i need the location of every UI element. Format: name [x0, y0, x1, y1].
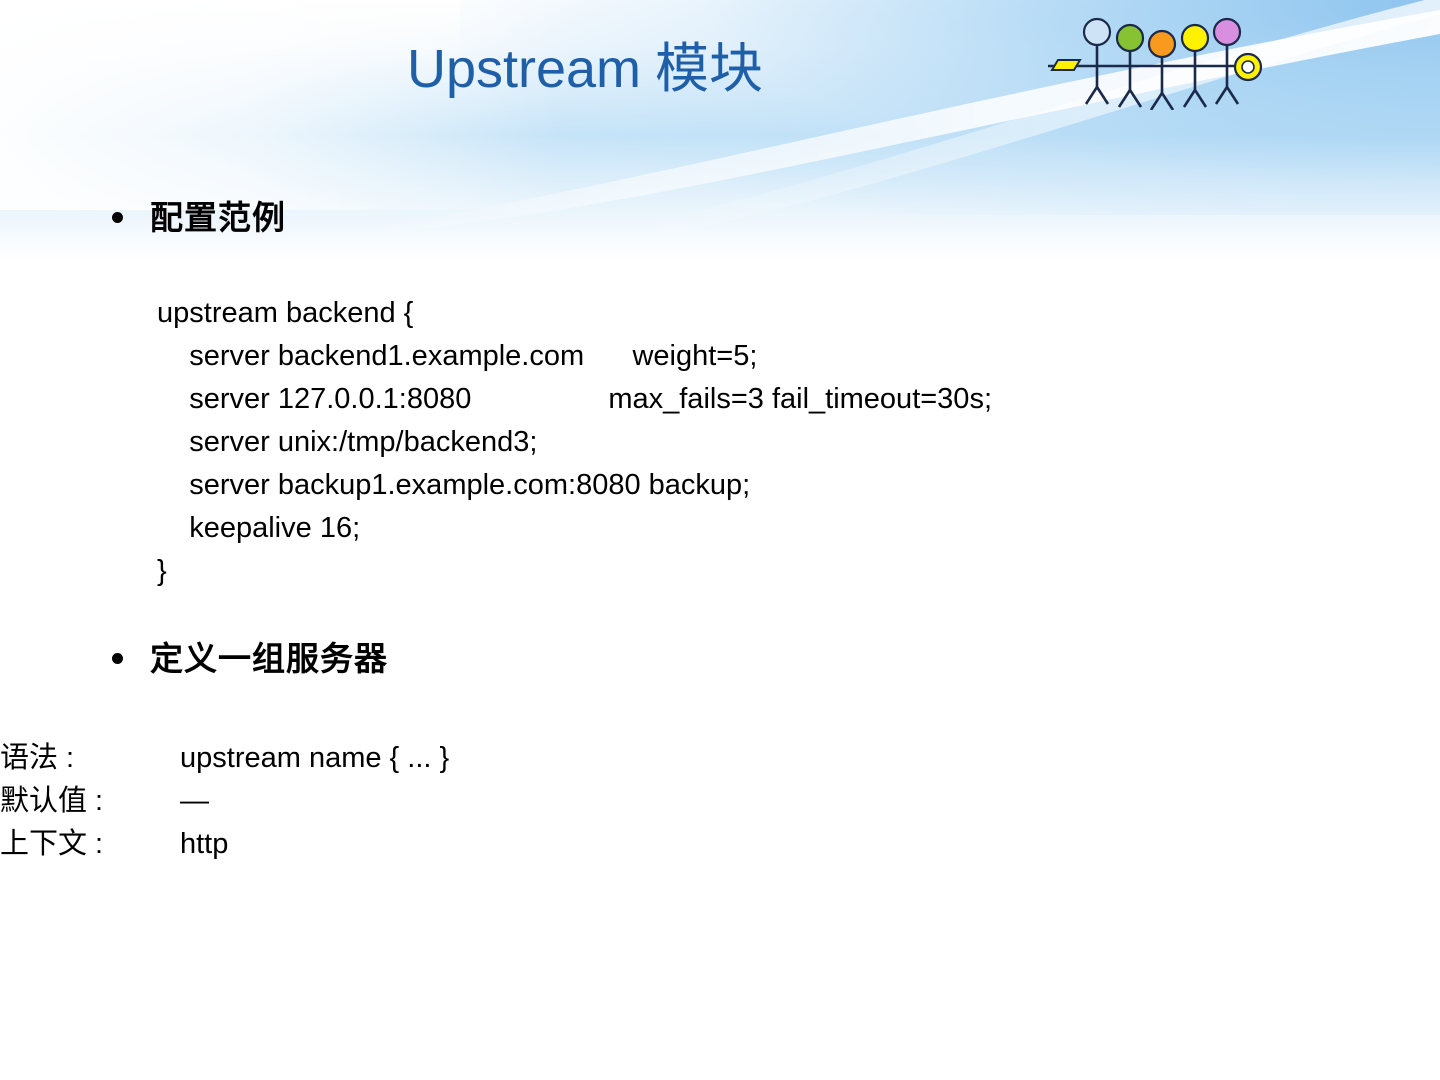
code-line: keepalive 16; — [157, 507, 1440, 550]
code-line: } — [157, 550, 1440, 593]
syntax-value: upstream name { ... } — [180, 737, 449, 780]
page-title-cjk: 模块 — [655, 39, 763, 99]
bullet-dot-icon — [112, 212, 123, 223]
code-line: upstream backend { — [157, 292, 1440, 335]
section-spacer — [0, 593, 1440, 637]
bullet-label: 定义一组服务器 — [150, 640, 388, 677]
logo-flag-icon — [1052, 60, 1080, 70]
syntax-label: 默认值 : — [0, 780, 180, 823]
syntax-label: 上下文 : — [0, 823, 180, 866]
page-title: Upstream模块 — [0, 36, 1170, 102]
code-line: server 127.0.0.1:8080 max_fails=3 fail_t… — [157, 378, 1440, 421]
bullet-item-define-server-group: 定义一组服务器 — [0, 637, 1440, 681]
code-block-upstream: upstream backend { server backend1.examp… — [0, 292, 1440, 593]
table-row: 默认值 : — — [0, 780, 449, 823]
table-row: 上下文 : http — [0, 823, 449, 866]
bullet-item-config-example: 配置范例 — [0, 196, 1440, 240]
background-white-fade — [0, 0, 560, 210]
bullet-dot-icon — [112, 653, 123, 664]
logo-figure-3 — [1149, 31, 1175, 110]
logo-figure-1 — [1084, 19, 1110, 104]
code-line: server unix:/tmp/backend3; — [157, 421, 1440, 464]
slide-content: 配置范例 upstream backend { server backend1.… — [0, 196, 1440, 866]
bullet-label: 配置范例 — [150, 199, 286, 236]
syntax-label: 语法 : — [0, 737, 180, 780]
section-spacer — [0, 681, 1440, 737]
slide-canvas: Upstream模块 — [0, 0, 1440, 1080]
logo-ring-icon — [1235, 54, 1261, 80]
table-row: 语法 : upstream name { ... } — [0, 737, 449, 780]
syntax-directive-table: 语法 : upstream name { ... } 默认值 : — 上下文 :… — [0, 737, 449, 866]
stick-figures-logo — [1040, 10, 1280, 110]
code-line: server backup1.example.com:8080 backup; — [157, 464, 1440, 507]
background-blue-glow — [460, 0, 1440, 215]
page-title-latin: Upstream — [407, 39, 641, 99]
syntax-value: http — [180, 823, 449, 866]
code-line: server backend1.example.com weight=5; — [157, 335, 1440, 378]
syntax-value: — — [180, 780, 449, 823]
